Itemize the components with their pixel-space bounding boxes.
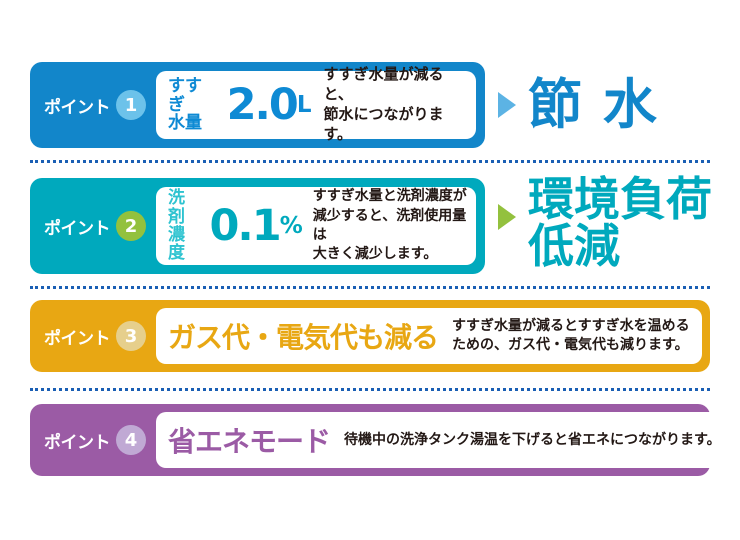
point-tag-4: ポイント 4 (30, 425, 156, 455)
point-card-4: 省エネモード 待機中の洗浄タンク湯温を下げると省エネにつながります。 (156, 412, 733, 468)
metric-label-2: 洗剤 濃度 (168, 189, 200, 262)
divider-1 (30, 160, 710, 163)
metric-value-2: 0.1 (210, 201, 280, 251)
point-card-1: すすぎ 水量 2.0 L すすぎ水量が減ると、 節水につながります。 (156, 71, 476, 139)
point-headline-4: 省エネモード (168, 420, 330, 460)
point-tag-3: ポイント 3 (30, 321, 156, 351)
arrow-right-icon (498, 204, 516, 230)
divider-2 (30, 286, 710, 289)
points-infographic: ポイント 1 すすぎ 水量 2.0 L すすぎ水量が減ると、 節水につながります… (0, 0, 740, 540)
metric-unit-2: % (280, 213, 303, 239)
outcome-text-2: 環境負荷 低減 (528, 176, 712, 270)
point-bar-2: ポイント 2 洗剤 濃度 0.1 % すすぎ水量と洗剤濃度が 減少すると、洗剤使… (30, 178, 485, 274)
arrow-right-icon (498, 92, 516, 118)
metric-unit-1: L (297, 92, 312, 118)
point-card-3: ガス代・電気代も減る すすぎ水量が減るとすすぎ水を温める ための、ガス代・電気代… (156, 308, 702, 364)
point-label-4: ポイント (44, 428, 110, 453)
point-label-2: ポイント (44, 214, 110, 239)
point-bar-4: ポイント 4 省エネモード 待機中の洗浄タンク湯温を下げると省エネにつながります… (30, 404, 710, 476)
point-row-3: ポイント 3 ガス代・電気代も減る すすぎ水量が減るとすすぎ水を温める ための、… (0, 300, 740, 372)
outcome-2: 環境負荷 低減 (498, 176, 712, 276)
point-number-3: 3 (116, 321, 146, 351)
outcome-text-1: 節 水 (528, 77, 658, 132)
point-label-3: ポイント (44, 324, 110, 349)
point-label-1: ポイント (44, 93, 110, 118)
outcome-1: 節 水 (498, 62, 658, 148)
point-number-4: 4 (116, 425, 146, 455)
point-bar-3: ポイント 3 ガス代・電気代も減る すすぎ水量が減るとすすぎ水を温める ための、… (30, 300, 710, 372)
point-number-2: 2 (116, 211, 146, 241)
point-description-2: すすぎ水量と洗剤濃度が 減少すると、洗剤使用量は 大きく減少します。 (313, 187, 468, 264)
point-description-4: 待機中の洗浄タンク湯温を下げると省エネにつながります。 (344, 431, 721, 449)
point-card-2: 洗剤 濃度 0.1 % すすぎ水量と洗剤濃度が 減少すると、洗剤使用量は 大きく… (156, 187, 476, 265)
metric-label-1: すすぎ 水量 (168, 77, 217, 132)
point-row-4: ポイント 4 省エネモード 待機中の洗浄タンク湯温を下げると省エネにつながります… (0, 404, 740, 476)
point-bar-1: ポイント 1 すすぎ 水量 2.0 L すすぎ水量が減ると、 節水につながります… (30, 62, 485, 148)
point-description-1: すすぎ水量が減ると、 節水につながります。 (323, 65, 466, 144)
point-tag-1: ポイント 1 (30, 90, 156, 120)
point-number-1: 1 (116, 90, 146, 120)
point-headline-3: ガス代・電気代も減る (168, 316, 438, 356)
divider-3 (30, 388, 710, 391)
point-tag-2: ポイント 2 (30, 211, 156, 241)
point-description-3: すすぎ水量が減るとすすぎ水を温める ための、ガス代・電気代も減ります。 (452, 317, 690, 356)
metric-value-1: 2.0 (227, 80, 297, 130)
